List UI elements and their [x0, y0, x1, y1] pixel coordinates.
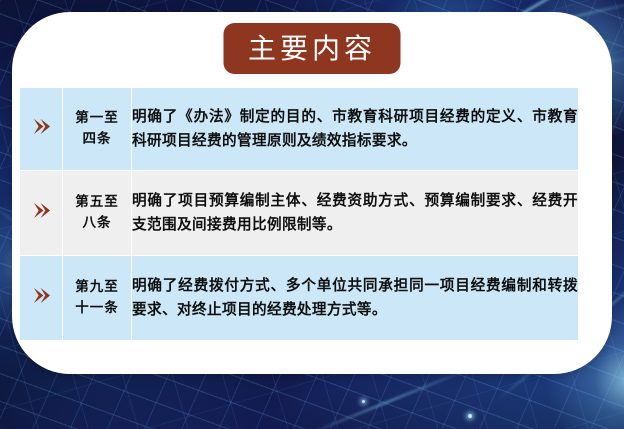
- row-body-text: 明确了《办法》制定的目的、市教育科研项目经费的定义、市教育科研项目经费的管理原则…: [132, 88, 579, 171]
- slide-title-chip: 主要内容: [224, 23, 401, 74]
- table-row: 第九至 十一条 明确了经费拨付方式、多个单位共同承担同一项目经费编制和转拨要求、…: [20, 256, 579, 341]
- row-arrow-cell: [20, 88, 63, 171]
- row-label-line: 八条: [63, 213, 131, 234]
- row-label-line: 十一条: [63, 298, 131, 319]
- arrow-right-icon: [32, 201, 51, 220]
- row-label-line: 第五至: [63, 192, 131, 213]
- table-row: 第一至 四条 明确了《办法》制定的目的、市教育科研项目经费的定义、市教育科研项目…: [20, 88, 579, 171]
- row-label: 第五至 八条: [63, 171, 132, 256]
- background-particle: [362, 400, 365, 403]
- row-arrow-cell: [20, 256, 63, 341]
- slide-canvas: 主要内容 第一至 四条 明确了《办法》制定的目的、市教育科研项目经费的定义、市教…: [0, 0, 624, 429]
- row-label-line: 第一至: [63, 108, 131, 129]
- row-label-line: 第九至: [63, 277, 131, 298]
- row-arrow-cell: [20, 171, 63, 256]
- page-title: 主要内容: [248, 35, 376, 63]
- content-table: 第一至 四条 明确了《办法》制定的目的、市教育科研项目经费的定义、市教育科研项目…: [19, 87, 579, 341]
- row-label: 第一至 四条: [63, 88, 132, 171]
- background-particle: [468, 414, 472, 418]
- arrow-right-icon: [32, 286, 51, 305]
- row-body-text: 明确了项目预算编制主体、经费资助方式、预算编制要求、经费开支范围及间接费用比例限…: [132, 171, 579, 256]
- row-label: 第九至 十一条: [63, 256, 132, 341]
- arrow-right-icon: [32, 117, 51, 136]
- table-row: 第五至 八条 明确了项目预算编制主体、经费资助方式、预算编制要求、经费开支范围及…: [20, 171, 579, 256]
- row-body-text: 明确了经费拨付方式、多个单位共同承担同一项目经费编制和转拨要求、对终止项目的经费…: [132, 256, 579, 341]
- row-label-line: 四条: [63, 129, 131, 150]
